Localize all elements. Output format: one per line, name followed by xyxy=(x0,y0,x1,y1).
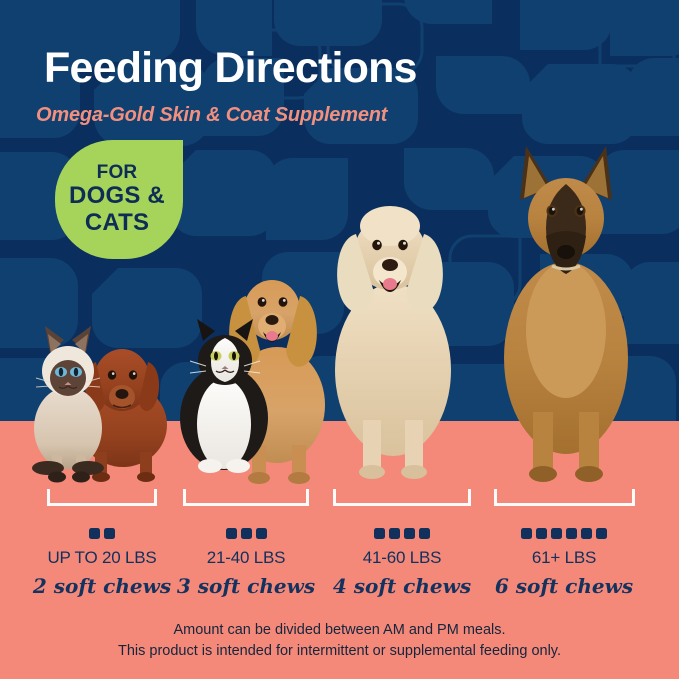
chew-chip xyxy=(389,528,400,539)
chew-chip xyxy=(521,528,532,539)
chew-chip xyxy=(404,528,415,539)
chew-chips-1 xyxy=(32,528,172,544)
feeding-directions-poster: Feeding Directions Omega-Gold Skin & Coa… xyxy=(0,0,679,679)
chew-chip xyxy=(374,528,385,539)
chew-chips-2 xyxy=(176,528,316,544)
bracket-group-4 xyxy=(494,489,635,506)
chews-label-3: 4 soft chews xyxy=(332,574,472,598)
bracket-group-1 xyxy=(47,489,157,506)
chews-label-2: 3 soft chews xyxy=(176,574,316,598)
dose-column-2: 21-40 LBS 3 soft chews xyxy=(176,528,316,598)
footer-line-1: Amount can be divided between AM and PM … xyxy=(0,620,679,641)
chew-chip xyxy=(581,528,592,539)
bracket-group-3 xyxy=(333,489,471,506)
dose-column-4: 61+ LBS 6 soft chews xyxy=(494,528,634,598)
chew-chip xyxy=(89,528,100,539)
dose-column-3: 41-60 LBS 4 soft chews xyxy=(332,528,472,598)
chew-chip xyxy=(596,528,607,539)
weight-label-3: 41-60 LBS xyxy=(332,548,472,568)
chews-label-1: 2 soft chews xyxy=(32,574,172,598)
weight-label-4: 61+ LBS xyxy=(494,548,634,568)
group-1-animals xyxy=(32,326,167,483)
chew-chip xyxy=(536,528,547,539)
footer-note: Amount can be divided between AM and PM … xyxy=(0,620,679,661)
german-shepherd-illustration xyxy=(504,146,628,482)
group-2-animals xyxy=(180,280,325,484)
chew-chips-3 xyxy=(332,528,472,544)
chew-chip xyxy=(104,528,115,539)
dose-column-1: UP TO 20 LBS 2 soft chews xyxy=(32,528,172,598)
chew-chip xyxy=(256,528,267,539)
chew-chips-4 xyxy=(494,528,634,544)
chew-chip xyxy=(419,528,430,539)
bracket-group-2 xyxy=(183,489,309,506)
goldendoodle-illustration xyxy=(335,206,451,479)
weight-label-2: 21-40 LBS xyxy=(176,548,316,568)
chew-chip xyxy=(566,528,577,539)
chew-chip xyxy=(551,528,562,539)
animal-lineup-illustration xyxy=(0,0,679,500)
chew-chip xyxy=(241,528,252,539)
chews-label-4: 6 soft chews xyxy=(494,574,634,598)
footer-line-2: This product is intended for intermitten… xyxy=(0,641,679,662)
siamese-cat-illustration xyxy=(32,326,104,483)
chew-chip xyxy=(226,528,237,539)
weight-label-1: UP TO 20 LBS xyxy=(32,548,172,568)
